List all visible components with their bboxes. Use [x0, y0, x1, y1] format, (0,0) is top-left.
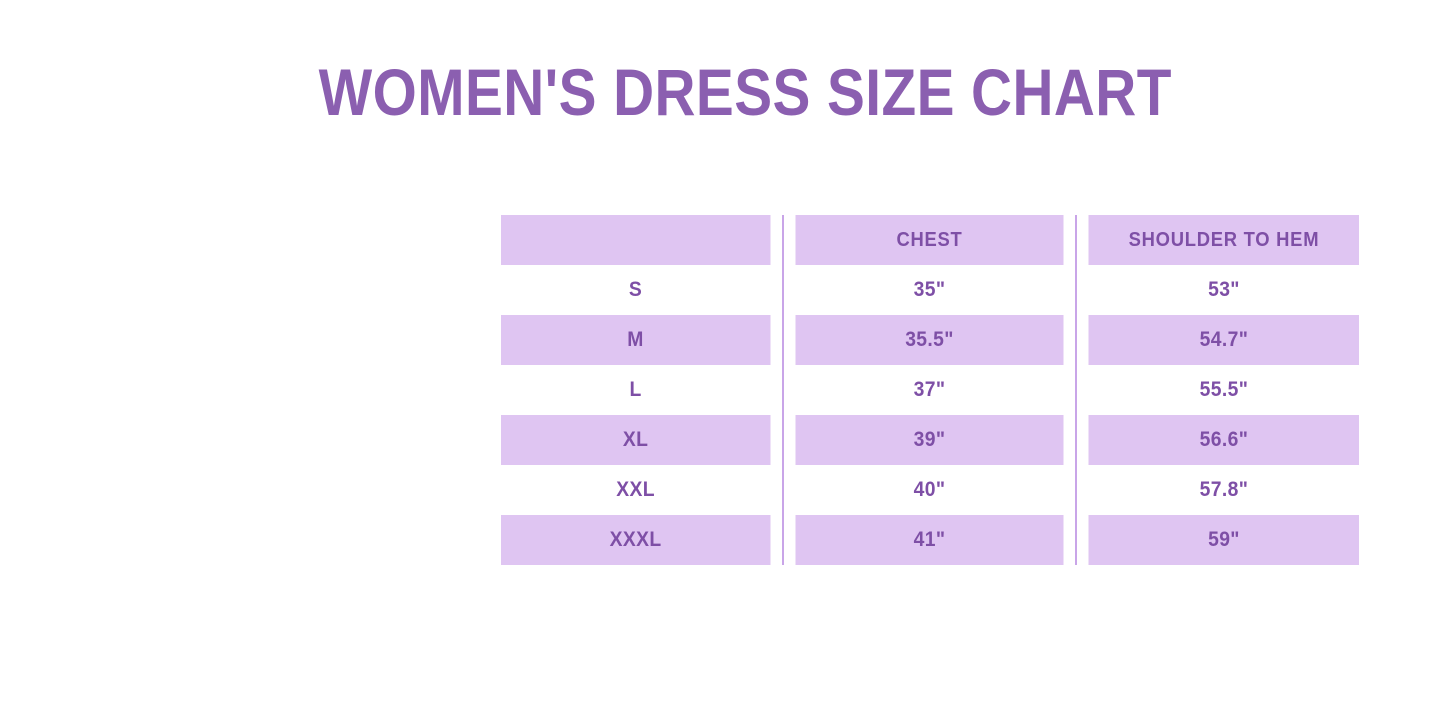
table-row: XL 39" 56.6"	[489, 415, 1371, 465]
column-header-chest: CHEST	[795, 215, 1065, 265]
cell-chest: 37"	[795, 365, 1065, 415]
cell-chest: 35"	[795, 265, 1065, 315]
table-header: CHEST SHOULDER TO HEM	[489, 215, 1371, 265]
cell-size: XXL	[501, 465, 771, 515]
cell-size: XXXL	[501, 515, 771, 565]
table-row: M 35.5" 54.7"	[489, 315, 1371, 365]
cell-shoulder-to-hem: 59"	[1088, 515, 1359, 565]
cell-shoulder-to-hem: 56.6"	[1088, 415, 1359, 465]
cell-size: L	[501, 365, 771, 415]
cell-chest: 35.5"	[795, 315, 1065, 365]
cell-chest: 39"	[795, 415, 1065, 465]
cell-size: S	[501, 265, 771, 315]
cell-chest: 41"	[795, 515, 1065, 565]
column-header-size	[501, 215, 771, 265]
table-row: S 35" 53"	[489, 265, 1371, 315]
cell-size: XL	[501, 415, 771, 465]
table-row: L 37" 55.5"	[489, 365, 1371, 415]
table-header-row: CHEST SHOULDER TO HEM	[489, 215, 1371, 265]
cell-chest: 40"	[795, 465, 1065, 515]
cell-shoulder-to-hem: 53"	[1088, 265, 1359, 315]
cell-size: M	[501, 315, 771, 365]
cell-shoulder-to-hem: 57.8"	[1088, 465, 1359, 515]
cell-shoulder-to-hem: 55.5"	[1088, 365, 1359, 415]
size-chart-table: CHEST SHOULDER TO HEM S 35" 53" M 35.5" …	[489, 215, 1371, 565]
cell-shoulder-to-hem: 54.7"	[1088, 315, 1359, 365]
page-title: WOMEN'S DRESS SIZE CHART	[124, 56, 1367, 128]
table-body: S 35" 53" M 35.5" 54.7" L 37" 55.5" XL 3…	[489, 265, 1371, 565]
column-header-shoulder-to-hem: SHOULDER TO HEM	[1088, 215, 1359, 265]
table-row: XXXL 41" 59"	[489, 515, 1371, 565]
table-row: XXL 40" 57.8"	[489, 465, 1371, 515]
